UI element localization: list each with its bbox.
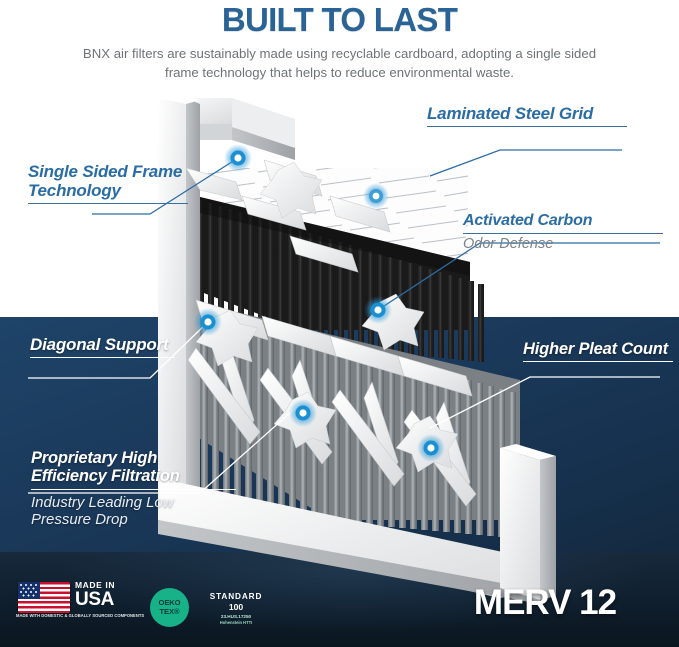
callout-diagonal-support: Diagonal Support bbox=[30, 335, 175, 358]
made-in-usa-badge: MADE IN USA bbox=[75, 580, 145, 609]
callout-proprietary-high-efficiency-filtration: Proprietary High Efficiency Filtration I… bbox=[31, 449, 236, 528]
callout-sublabel: Industry Leading Low Pressure Drop bbox=[31, 494, 236, 529]
callout-rule bbox=[28, 203, 188, 204]
callout-sublabel: Odor Defense bbox=[463, 236, 663, 253]
page-subtitle: BNX air filters are sustainably made usi… bbox=[78, 44, 601, 82]
callout-rule bbox=[463, 233, 663, 234]
callout-label: Higher Pleat Count bbox=[523, 340, 673, 358]
callout-activated-carbon: Activated Carbon Odor Defense bbox=[463, 212, 663, 253]
flag-canton bbox=[18, 582, 40, 599]
callout-rule bbox=[31, 489, 236, 490]
oeko-institute: Hohenstein HTTI bbox=[196, 620, 276, 625]
oeko-tex-certification: STANDARD 100 23.HUS.17250 Hohenstein HTT… bbox=[196, 592, 276, 625]
usa-flag-icon bbox=[18, 582, 70, 613]
callout-rule bbox=[523, 361, 673, 362]
oeko-line2: TEX® bbox=[160, 608, 180, 616]
infographic-page: BUILT TO LAST BNX air filters are sustai… bbox=[0, 0, 679, 647]
oeko-standard-number: 100 bbox=[196, 602, 276, 612]
callout-rule bbox=[30, 357, 175, 358]
usa-text: USA bbox=[75, 590, 145, 609]
usa-fine-print: MADE WITH DOMESTIC & GLOBALLY SOURCED CO… bbox=[16, 613, 140, 619]
callout-label: Laminated Steel Grid bbox=[427, 104, 627, 123]
oeko-standard-label: STANDARD bbox=[196, 592, 276, 602]
callout-higher-pleat-count: Higher Pleat Count bbox=[523, 340, 673, 362]
callout-label: Diagonal Support bbox=[30, 335, 175, 354]
callout-single-sided-frame-technology: Single Sided Frame Technology bbox=[28, 162, 188, 204]
page-title: BUILT TO LAST bbox=[0, 1, 679, 39]
callout-label: Proprietary High Efficiency Filtration bbox=[31, 449, 236, 486]
callout-laminated-steel-grid: Laminated Steel Grid bbox=[427, 104, 627, 127]
oeko-tex-logo-icon: OEKO TEX® bbox=[150, 588, 189, 627]
callout-label: Single Sided Frame Technology bbox=[28, 162, 188, 200]
merv-rating: MERV 12 bbox=[430, 583, 660, 623]
callout-label: Activated Carbon bbox=[463, 212, 663, 230]
callout-rule bbox=[427, 126, 627, 127]
